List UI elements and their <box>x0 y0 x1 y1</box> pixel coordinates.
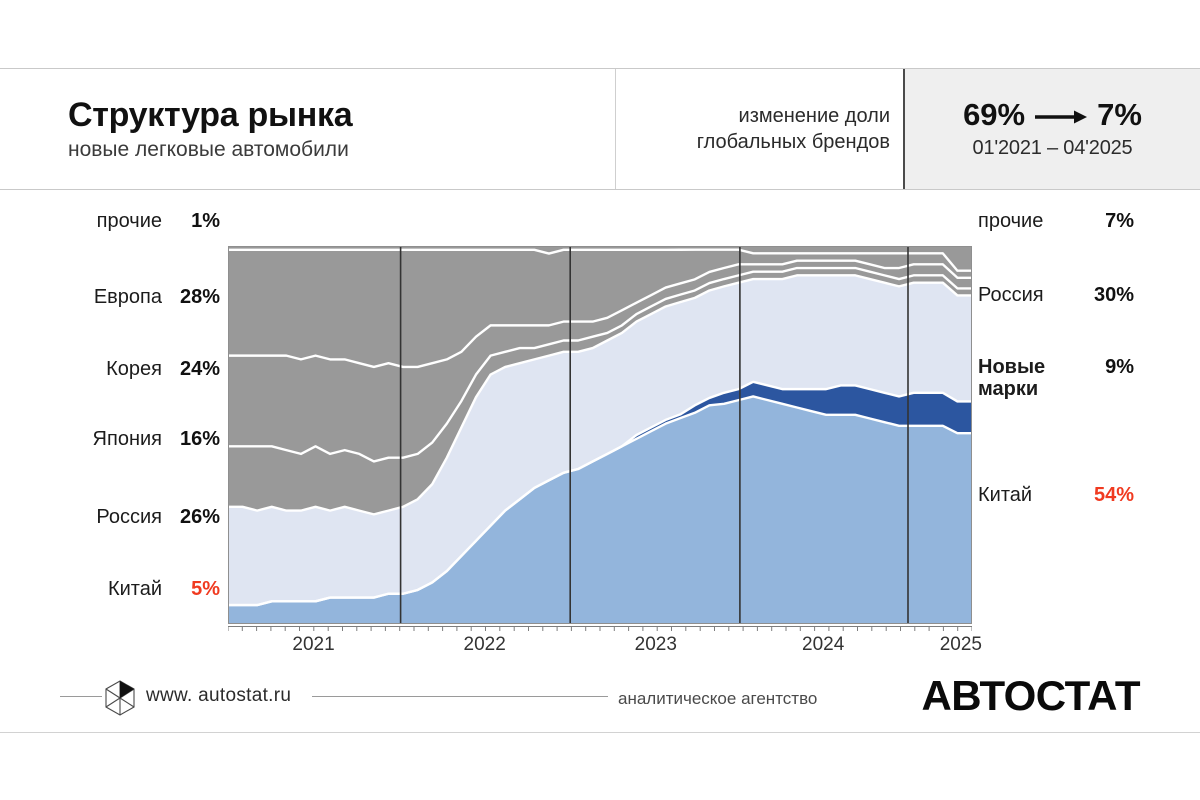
title-block: Структура рынка новые легковые автомобил… <box>0 69 615 189</box>
legend-item-left-3: Япония16% <box>93 428 220 451</box>
x-axis-year-label: 2024 <box>802 634 844 656</box>
plot-svg <box>228 246 972 624</box>
page-subtitle: новые легковые автомобили <box>68 138 615 161</box>
x-axis-year-label: 2023 <box>635 634 677 656</box>
x-axis-year-label: 2021 <box>292 634 334 656</box>
legend-item-left-5: Китай5% <box>108 578 220 601</box>
legend-label: Европа <box>94 286 162 308</box>
arrow-right-icon <box>1034 99 1088 130</box>
legend-left: прочие1%Европа28%Корея24%Япония16%Россия… <box>38 196 220 596</box>
metric-from-value: 69% <box>963 99 1025 130</box>
metric-highlight-box: 69% 7% 01'2021 – 04'2025 <box>903 69 1200 189</box>
x-axis-year-label: 2025 <box>940 634 982 656</box>
metric-caption-line-1: изменение доли <box>739 103 890 129</box>
metric-values-row: 69% 7% <box>963 99 1142 130</box>
legend-label: Китай <box>108 578 162 600</box>
legend-label: Россия <box>96 506 162 528</box>
metric-period: 01'2021 – 04'2025 <box>973 137 1133 160</box>
legend-label: Россия <box>978 284 1074 306</box>
legend-value: 1% <box>174 210 220 233</box>
metric-caption: изменение доли глобальных брендов <box>615 69 903 189</box>
legend-item-left-1: Европа28% <box>94 286 220 309</box>
legend-value: 7% <box>1086 210 1134 233</box>
legend-value: 9% <box>1086 356 1134 379</box>
legend-item-left-4: Россия26% <box>96 506 220 529</box>
x-axis-year-label: 2022 <box>464 634 506 656</box>
chart-section: прочие1%Европа28%Корея24%Япония16%Россия… <box>0 190 1200 660</box>
legend-value: 16% <box>174 428 220 451</box>
legend-value: 54% <box>1086 484 1134 507</box>
legend-label: прочие <box>978 210 1074 232</box>
legend-item-right-2: Новыемарки9% <box>978 356 1134 400</box>
footer-divider-mid <box>312 696 608 697</box>
site-url-link[interactable]: www. autostat.ru <box>146 685 291 707</box>
legend-item-left-2: Корея24% <box>106 358 220 381</box>
legend-item-right-1: Россия30% <box>978 284 1134 307</box>
metric-to-value: 7% <box>1097 99 1142 130</box>
autostat-hexagon-logo-icon <box>100 678 140 718</box>
x-axis: 20212022202320242025 <box>228 626 972 660</box>
footer-bar: www. autostat.ru аналитическое агентство… <box>0 660 1200 732</box>
area-series-group <box>228 246 972 624</box>
legend-label: Новыемарки <box>978 356 1074 400</box>
legend-value: 30% <box>1086 284 1134 307</box>
x-axis-ticks <box>228 626 972 636</box>
legend-label: Корея <box>106 358 162 380</box>
legend-value: 28% <box>174 286 220 309</box>
legend-label: Япония <box>93 428 162 450</box>
page-title: Структура рынка <box>68 97 615 134</box>
metric-caption-line-2: глобальных брендов <box>697 129 890 155</box>
legend-right: прочие7%Россия30%Новыемарки9%Китай54% <box>978 196 1188 596</box>
agency-tagline: аналитическое агентство <box>618 689 817 709</box>
legend-value: 26% <box>174 506 220 529</box>
brand-wordmark: АВТОСТАТ <box>921 672 1140 720</box>
legend-value: 5% <box>174 578 220 601</box>
infographic-page: Структура рынка новые легковые автомобил… <box>0 0 1200 800</box>
footer-divider-left <box>60 696 102 697</box>
header-bar: Структура рынка новые легковые автомобил… <box>0 68 1200 190</box>
legend-label: прочие <box>97 210 162 232</box>
legend-item-right-3: Китай54% <box>978 484 1134 507</box>
legend-item-left-0: прочие1% <box>97 210 220 233</box>
page-bottom-divider <box>0 732 1200 733</box>
legend-label: Китай <box>978 484 1074 506</box>
legend-value: 24% <box>174 358 220 381</box>
legend-item-right-0: прочие7% <box>978 210 1134 233</box>
stacked-area-plot <box>228 246 972 624</box>
